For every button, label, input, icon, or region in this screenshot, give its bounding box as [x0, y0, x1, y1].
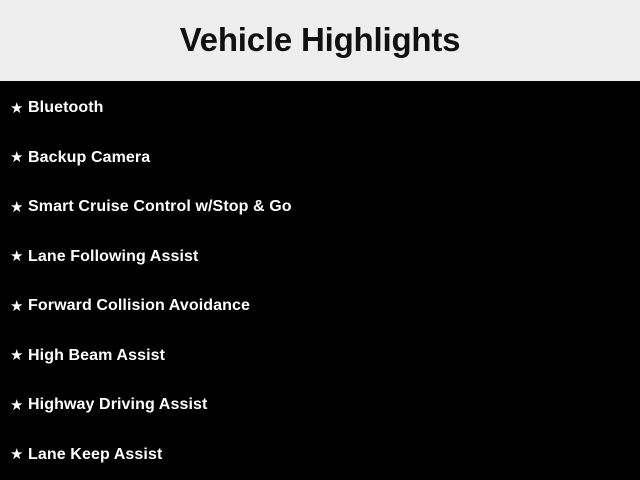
star-icon: ★: [10, 101, 28, 116]
list-item: ★Smart Cruise Control w/Stop & Go: [0, 196, 640, 218]
vehicle-highlights-page: Vehicle Highlights ★Bluetooth★Backup Cam…: [0, 0, 640, 480]
highlight-item-label: Backup Camera: [28, 150, 150, 166]
star-icon: ★: [10, 348, 28, 363]
star-icon: ★: [10, 398, 28, 413]
list-item: ★Lane Keep Assist: [0, 444, 640, 466]
highlights-list: ★Bluetooth★Backup Camera★Smart Cruise Co…: [0, 81, 640, 480]
page-header: Vehicle Highlights: [0, 0, 640, 81]
list-item: ★Backup Camera: [0, 147, 640, 169]
highlight-item-label: High Beam Assist: [28, 348, 165, 364]
highlight-item-label: Smart Cruise Control w/Stop & Go: [28, 199, 292, 215]
highlight-item-label: Highway Driving Assist: [28, 397, 207, 413]
list-item: ★High Beam Assist: [0, 345, 640, 367]
highlight-item-label: Forward Collision Avoidance: [28, 298, 250, 314]
highlight-item-label: Lane Keep Assist: [28, 447, 162, 463]
list-item: ★Highway Driving Assist: [0, 394, 640, 416]
star-icon: ★: [10, 249, 28, 264]
list-item: ★Lane Following Assist: [0, 246, 640, 268]
star-icon: ★: [10, 150, 28, 165]
star-icon: ★: [10, 447, 28, 462]
list-item: ★Forward Collision Avoidance: [0, 295, 640, 317]
star-icon: ★: [10, 299, 28, 314]
highlight-item-label: Lane Following Assist: [28, 249, 198, 265]
star-icon: ★: [10, 200, 28, 215]
page-title: Vehicle Highlights: [180, 23, 461, 58]
highlight-item-label: Bluetooth: [28, 100, 104, 116]
list-item: ★Bluetooth: [0, 97, 640, 119]
